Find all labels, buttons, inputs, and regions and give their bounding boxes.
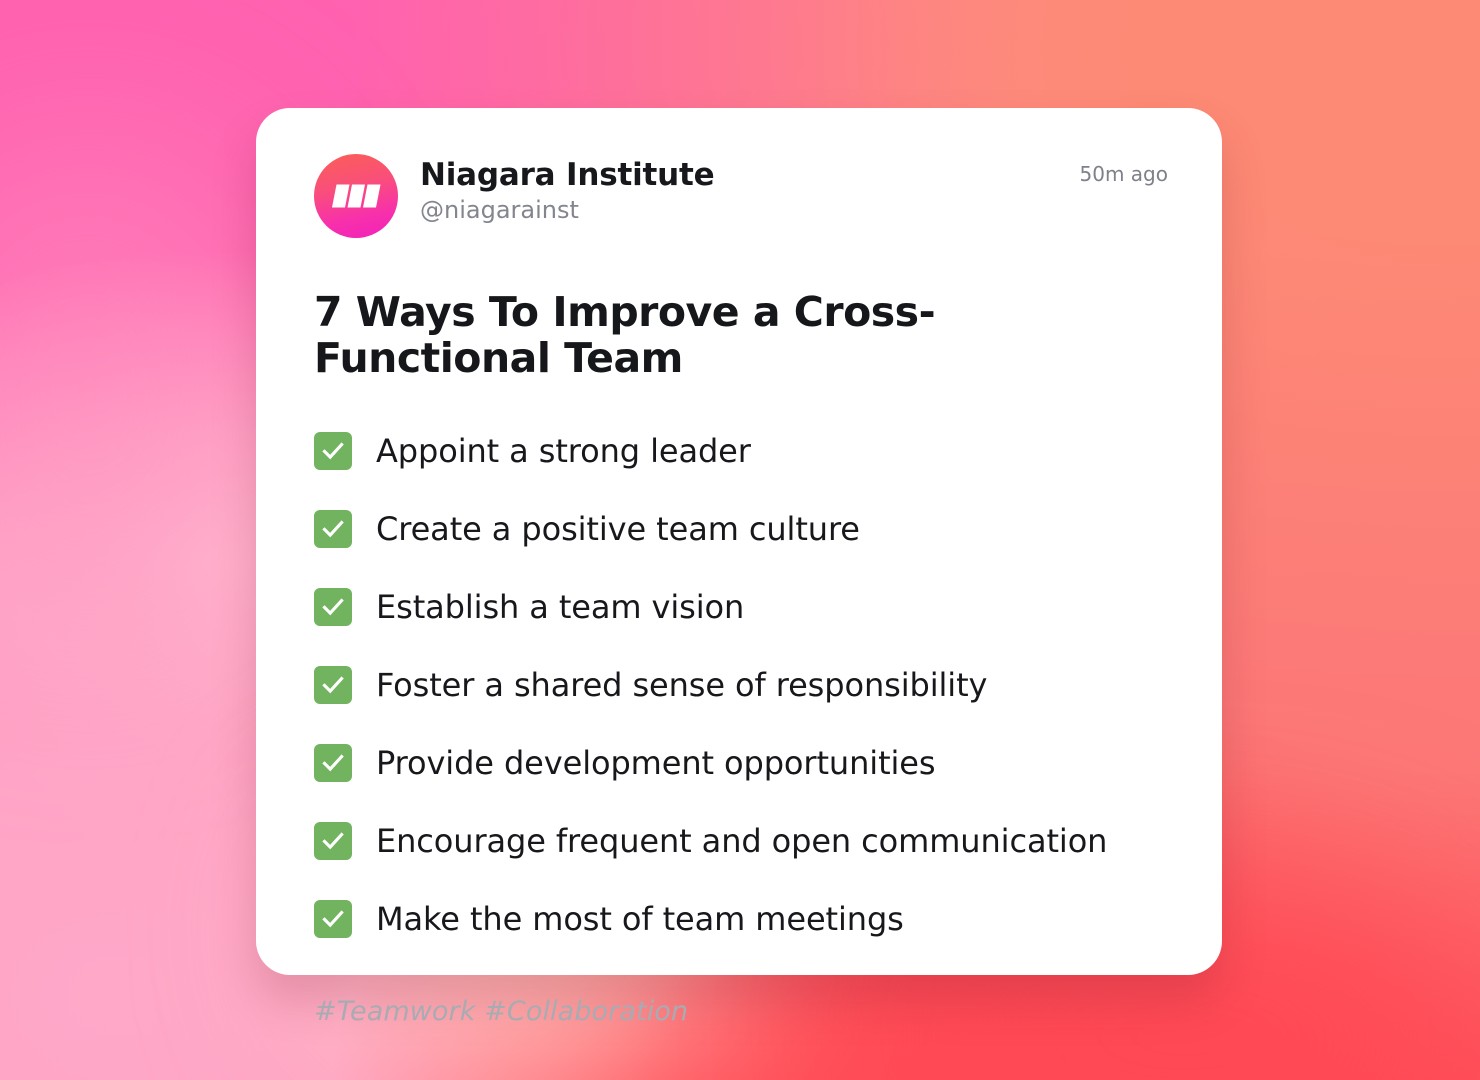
list-item[interactable]: Make the most of team meetings — [314, 880, 1170, 958]
list-item-label: Provide development opportunities — [376, 744, 935, 782]
background-blob-pink — [0, 129, 299, 649]
account-identity: Niagara Institute @niagarainst — [420, 152, 714, 225]
social-post-card: Niagara Institute @niagarainst 50m ago 7… — [256, 108, 1222, 975]
list-item[interactable]: Appoint a strong leader — [314, 412, 1170, 490]
hashtags[interactable]: #Teamwork #Collaboration — [314, 996, 1170, 1027]
checkmark-icon — [320, 906, 346, 932]
checkbox-checked-icon[interactable] — [314, 744, 352, 782]
avatar[interactable] — [314, 154, 398, 238]
list-item-label: Foster a shared sense of responsibility — [376, 666, 987, 704]
checkmark-icon — [320, 750, 346, 776]
list-item-label: Establish a team vision — [376, 588, 744, 626]
checkmark-icon — [320, 828, 346, 854]
checkbox-checked-icon[interactable] — [314, 666, 352, 704]
checkbox-checked-icon[interactable] — [314, 900, 352, 938]
list-item[interactable]: Provide development opportunities — [314, 724, 1170, 802]
account-handle[interactable]: @niagarainst — [420, 195, 714, 225]
list-item[interactable]: Establish a team vision — [314, 568, 1170, 646]
checkbox-checked-icon[interactable] — [314, 432, 352, 470]
list-item-label: Create a positive team culture — [376, 510, 860, 548]
checkbox-checked-icon[interactable] — [314, 822, 352, 860]
post-timestamp: 50m ago — [1080, 162, 1168, 186]
account-name[interactable]: Niagara Institute — [420, 158, 714, 193]
list-item[interactable]: Encourage frequent and open communicatio… — [314, 802, 1170, 880]
list-item-label: Encourage frequent and open communicatio… — [376, 822, 1107, 860]
list-item[interactable]: Create a positive team culture — [314, 490, 1170, 568]
checklist: Appoint a strong leader Create a positiv… — [314, 412, 1170, 958]
checkbox-checked-icon[interactable] — [314, 510, 352, 548]
checkmark-icon — [320, 438, 346, 464]
niagara-institute-logo-icon — [314, 154, 398, 238]
post-title: 7 Ways To Improve a Cross-Functional Tea… — [314, 290, 1170, 382]
list-item-label: Make the most of team meetings — [376, 900, 904, 938]
list-item[interactable]: Foster a shared sense of responsibility — [314, 646, 1170, 724]
checkmark-icon — [320, 594, 346, 620]
post-header: Niagara Institute @niagarainst 50m ago — [314, 152, 1170, 238]
checkbox-checked-icon[interactable] — [314, 588, 352, 626]
checkmark-icon — [320, 672, 346, 698]
checkmark-icon — [320, 516, 346, 542]
list-item-label: Appoint a strong leader — [376, 432, 751, 470]
